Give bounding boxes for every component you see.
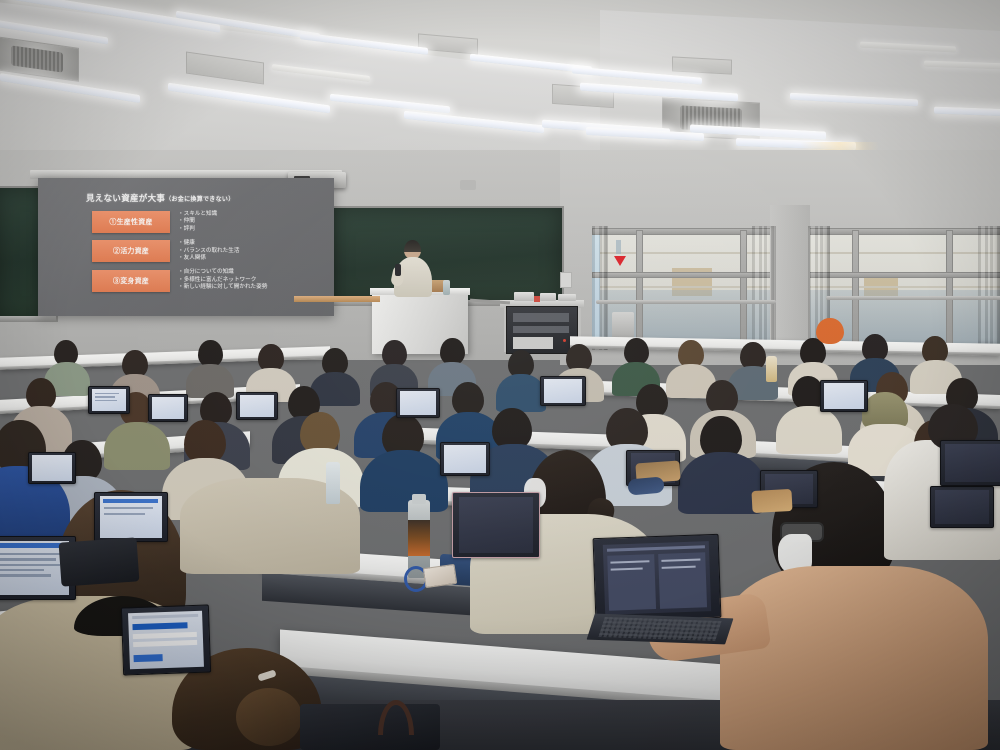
slide-bullet: ・仲間 [178,218,217,225]
bottle-cap [412,494,426,504]
laptop-keyboard [587,614,734,645]
student-head [198,340,223,367]
projection-screen: 見えない資産が大事（お金に換算できない） ①生産性資産 ・スキルと知識 ・仲間 … [38,178,334,316]
presenter-remote [395,264,401,276]
slide-bullet: ・自分についての知識 [178,269,267,276]
window-mullion [946,230,953,350]
curtain [978,226,1000,344]
slide-row: ②活力資産 ・健康 ・バランスの取れた生活 ・友人関係 [92,240,324,262]
bottle-label [408,520,430,556]
student-head [624,338,649,365]
ceiling-access-panel [672,56,732,74]
student-head [452,382,484,416]
student-body-tan [720,566,988,750]
slide-chip: ①生産性資産 [92,211,170,233]
slide-title: 見えない資産が大事（お金に換算できない） [86,192,324,204]
slide-content: 見えない資産が大事（お金に換算できない） ①生産性資産 ・スキルと知識 ・仲間 … [38,178,334,316]
laptop [94,492,168,542]
window-label [616,240,621,254]
av-device [540,293,556,301]
laptop [930,486,994,528]
presenter [392,240,434,296]
student-head [382,340,407,367]
slide-chip: ②活力資産 [92,240,170,262]
chalk-rail [0,316,56,321]
floor-trunking [294,296,380,302]
slide-chip: ③変身資産 [92,270,170,292]
emergency-triangle-icon [614,256,626,266]
slide-bullets: ・自分についての知識 ・多様性に富んだネットワーク ・新しい経験に対して開かれた… [178,269,267,291]
student-body [776,406,842,454]
student-body [496,374,546,412]
laptop [88,386,130,414]
laptop [540,376,586,406]
slide-title-sub: （お金に換算できない） [165,197,234,203]
window-mullion [852,230,859,350]
slide-row: ③変身資産 ・自分についての知識 ・多様性に富んだネットワーク ・新しい経験に対… [92,269,324,291]
student-beanie-icon [862,392,908,428]
laptop [28,452,76,484]
curtain [752,226,776,348]
av-rack [506,306,578,354]
wall-outlet [560,272,572,288]
laptop [236,392,278,420]
hair-bun [236,688,302,746]
backpack [59,537,140,586]
curtain [592,226,608,350]
slide-bullet: ・新しい経験に対して開かれた姿勢 [178,284,267,291]
slide-bullets: ・健康 ・バランスの取れた生活 ・友人関係 [178,240,239,262]
pencil-case [751,489,792,513]
window-handrail [596,300,776,304]
lecture-hall-photo: 見えない資産が大事（お金に換算できない） ①生産性資産 ・スキルと知識 ・仲間 … [0,0,1000,750]
av-device-red [534,296,540,302]
av-device [558,294,576,301]
wall-speaker-icon [460,180,476,190]
slide-bullet: ・友人関係 [178,255,239,262]
student-body [104,422,170,470]
student-head [440,338,465,365]
bag-foreground [300,704,440,750]
laptop [148,394,188,422]
window-mullion [740,230,747,350]
slide-title-main: 見えない資産が大事 [86,193,165,203]
laptop-typing [593,534,722,622]
form-title-bar [133,622,188,630]
slide-bullet: ・バランスの取れた生活 [178,248,239,255]
laptop [452,492,540,558]
slide-row: ①生産性資産 ・スキルと知識 ・仲間 ・評判 [92,211,324,233]
window-mullion [636,230,643,350]
window-handrail [826,296,1000,300]
slide-bullets: ・スキルと知識 ・仲間 ・評判 [178,211,217,233]
slide-bullet: ・評判 [178,226,217,233]
laptop-foreground-form [121,604,211,675]
water-bottle [443,280,450,295]
laptop [440,442,490,476]
laptop [396,388,440,418]
slide-bullet: ・健康 [178,240,239,247]
av-device [514,292,534,301]
laptop [820,380,868,412]
student-body [360,450,448,512]
water-bottle [766,356,777,382]
water-bottle [326,462,340,504]
student-head-orange-hood [816,318,844,344]
laptop [940,440,1000,486]
window-pier [770,205,810,340]
student-head [706,380,738,414]
